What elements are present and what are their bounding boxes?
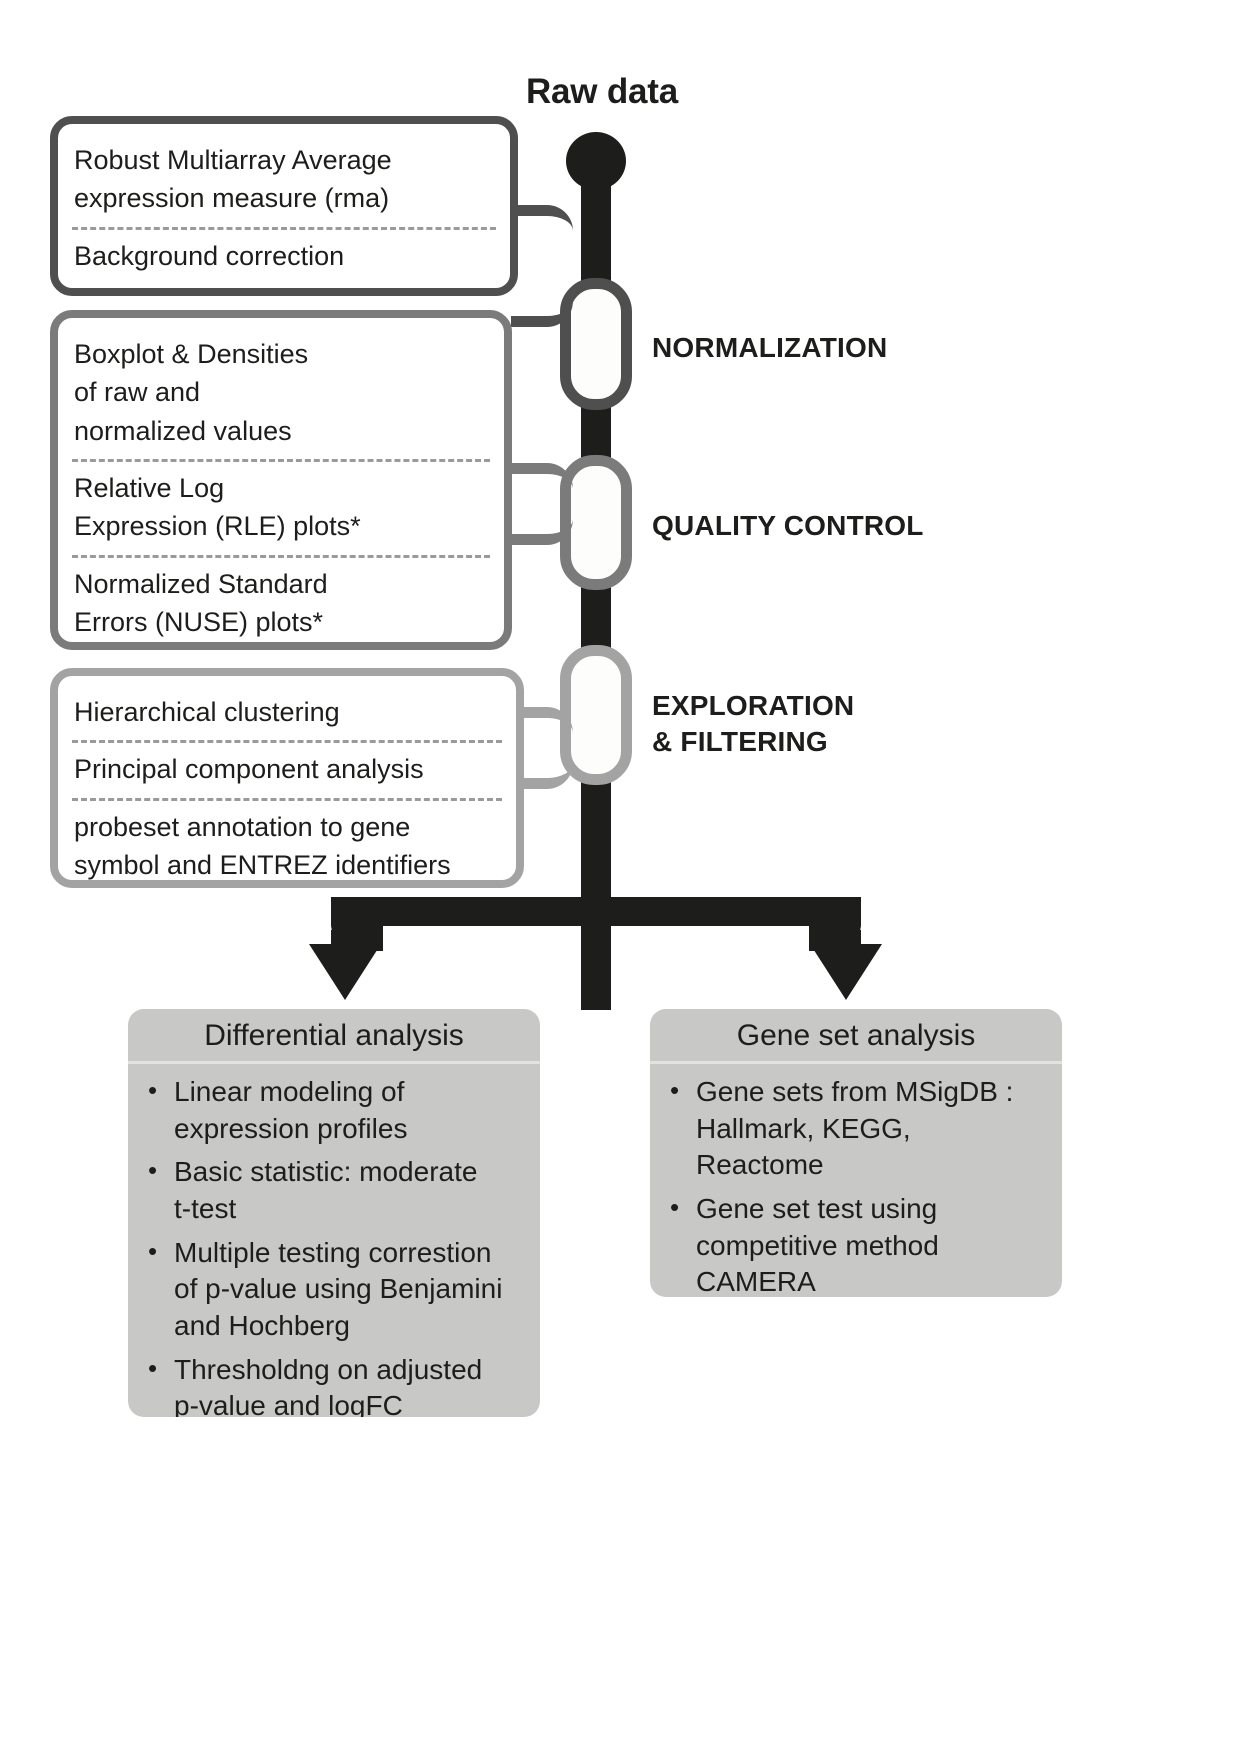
list-item: Thresholdng on adjusted p-value and logF… [174, 1352, 524, 1417]
workflow-diagram: Raw data NORMALIZATION QUALITY CONTROL E… [0, 0, 1240, 1753]
stage-label-exploration: EXPLORATION & FILTERING [652, 688, 854, 760]
card-section-nuse-plots: Normalized Standard Errors (NUSE) plots* [72, 555, 490, 651]
card-section-boxplot-densities: Boxplot & Densities of raw and normalize… [72, 328, 490, 459]
arrow-head-right-icon [810, 944, 882, 1000]
card-section-pca: Principal component analysis [72, 740, 502, 797]
info-card-normalization: Robust Multiarray Average expression mea… [50, 116, 518, 296]
list-item: Gene sets from MSigDB : Hallmark, KEGG, … [696, 1074, 1046, 1184]
list-item: Gene set test using competitive method C… [696, 1191, 1046, 1297]
connector-quality-control [511, 463, 573, 545]
card-section-rma: Robust Multiarray Average expression mea… [72, 134, 496, 227]
differential-analysis-title: Differential analysis [128, 1009, 540, 1064]
list-item: Linear modeling of expression profiles [174, 1074, 524, 1147]
connector-normalization [511, 205, 573, 327]
stage-label-quality-control: QUALITY CONTROL [652, 508, 924, 544]
list-item: Basic statistic: moderate t-test [174, 1154, 524, 1227]
card-section-rle-plots: Relative Log Expression (RLE) plots* [72, 459, 490, 555]
output-box-gene-set-analysis: Gene set analysis Gene sets from MSigDB … [650, 1009, 1062, 1297]
differential-analysis-list: Linear modeling of expression profiles B… [128, 1064, 540, 1417]
card-section-background-correction: Background correction [72, 227, 496, 284]
fork-connector [352, 897, 840, 926]
info-card-exploration: Hierarchical clustering Principal compon… [50, 668, 524, 888]
gene-set-analysis-list: Gene sets from MSigDB : Hallmark, KEGG, … [650, 1064, 1062, 1297]
raw-data-title: Raw data [472, 72, 732, 112]
info-card-quality-control: Boxplot & Densities of raw and normalize… [50, 310, 512, 650]
stage-label-normalization: NORMALIZATION [652, 330, 887, 366]
list-item: Multiple testing correstion of p-value u… [174, 1235, 524, 1345]
card-section-probeset-annotation: probeset annotation to gene symbol and E… [72, 798, 502, 894]
arrow-head-left-icon [309, 944, 381, 1000]
card-section-hierarchical-clustering: Hierarchical clustering [72, 686, 502, 740]
gene-set-analysis-title: Gene set analysis [650, 1009, 1062, 1064]
output-box-differential-analysis: Differential analysis Linear modeling of… [128, 1009, 540, 1417]
